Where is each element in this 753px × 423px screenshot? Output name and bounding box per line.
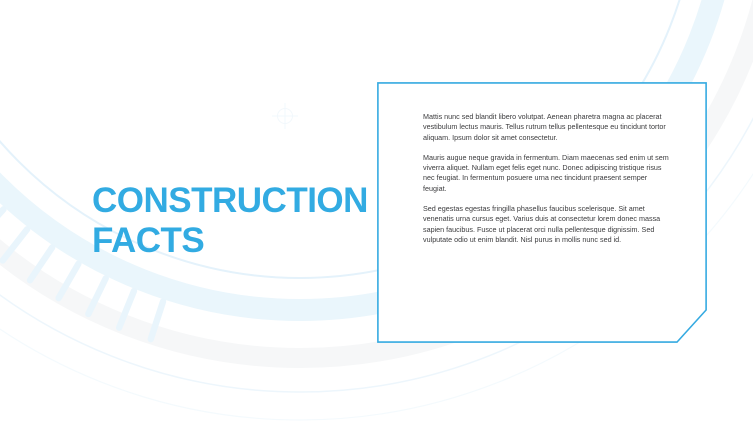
card-text-block: Mattis nunc sed blandit libero volutpat.… [423, 112, 671, 245]
page-title: CONSTRUCTION FACTS [92, 181, 362, 261]
slide-canvas: CONSTRUCTION FACTS Mattis nunc sed bland… [0, 0, 753, 423]
body-paragraph: Mauris augue neque gravida in fermentum.… [423, 153, 671, 194]
body-paragraph: Mattis nunc sed blandit libero volutpat.… [423, 112, 671, 143]
content-card: Mattis nunc sed blandit libero volutpat.… [377, 82, 707, 343]
body-paragraph: Sed egestas egestas fringilla phasellus … [423, 204, 671, 245]
crosshair-marker [272, 103, 298, 129]
